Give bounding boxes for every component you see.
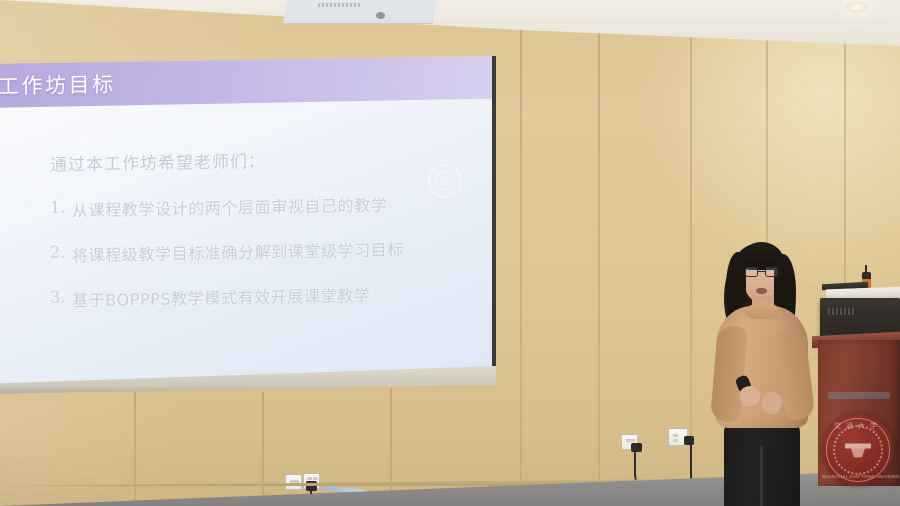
slide-lead-text: 通过本工作坊希望老师们： (50, 143, 466, 176)
university-seal: 交通大学 SHANGHAI JIAO TONG UNIVERSITY (822, 414, 894, 486)
turtleneck-collar (745, 302, 781, 319)
presentation-slide: 工作坊目标 通过本工作坊希望老师们： 1. 从课程教学设计的两个层面审视自己的教… (0, 56, 492, 386)
wall-seam (520, 0, 522, 506)
pants (724, 420, 800, 506)
seal-text-cn: 交通大学 (822, 421, 894, 431)
list-item: 3. 基于BOPPPS教学模式有效开展课堂教学 (50, 280, 466, 312)
list-item-label: 从课程教学设计的两个层面审视自己的教学 (72, 192, 387, 222)
wall-seam (262, 392, 264, 506)
list-item-number: 2. (50, 242, 72, 266)
list-item: 1. 从课程教学设计的两个层面审视自己的教学 (50, 190, 466, 222)
list-item-label: 基于BOPPPS教学模式有效开展课堂教学 (72, 282, 370, 311)
podium-label-strip (828, 392, 890, 399)
ceiling-projector (283, 0, 439, 24)
seal-anvil-icon (843, 439, 873, 461)
wall-seam (690, 14, 692, 506)
projector-vent-icon (318, 3, 361, 7)
slide-body: 通过本工作坊希望老师们： 1. 从课程教学设计的两个层面审视自己的教学 2. 将… (0, 99, 492, 386)
list-item-number: 3. (50, 287, 72, 311)
outlet-slot (626, 439, 635, 442)
lens-left (745, 267, 758, 277)
presenter (700, 236, 820, 506)
list-item: 2. 将课程级教学目标准确分解到课堂级学习目标 (50, 235, 466, 267)
list-item-number: 1. (50, 197, 72, 221)
slide-bullet-list: 1. 从课程教学设计的两个层面审视自己的教学 2. 将课程级教学目标准确分解到课… (50, 190, 466, 312)
outlet-slot (673, 434, 678, 437)
wall-seam (598, 8, 600, 506)
lecture-room-scene: 工作坊目标 通过本工作坊希望老师们： 1. 从课程教学设计的两个层面审视自己的教… (0, 0, 900, 506)
outlet-slot (673, 439, 678, 442)
glasses-bridge (758, 271, 765, 272)
wall-seam (390, 388, 392, 506)
outlet-slot (307, 477, 312, 480)
wall-outlet-left[interactable] (285, 474, 302, 490)
ceiling-speaker-icon (376, 12, 385, 19)
ceiling (0, 0, 900, 64)
lens-right (765, 267, 778, 277)
list-item-label: 将课程级教学目标准确分解到课堂级学习目标 (72, 236, 404, 266)
seal-text-en: SHANGHAI JIAO TONG UNIVERSITY (822, 474, 894, 479)
wall-seam (134, 392, 136, 506)
projection-screen: 工作坊目标 通过本工作坊希望老师们： 1. 从课程教学设计的两个层面审视自己的教… (0, 56, 492, 386)
recessed-downlight (846, 2, 868, 13)
glasses-icon (745, 267, 778, 277)
outlet-slot (313, 477, 318, 480)
mouth (756, 288, 767, 294)
slide-title: 工作坊目标 (0, 69, 116, 101)
